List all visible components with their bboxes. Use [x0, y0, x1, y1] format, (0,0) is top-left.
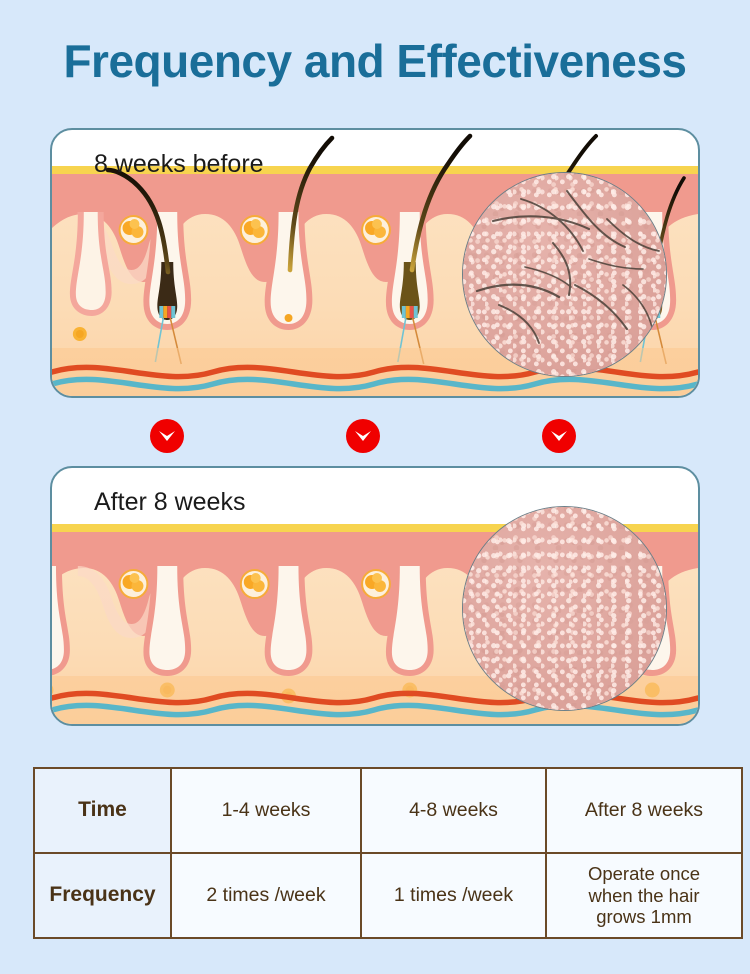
panel-8-weeks-before: 8 weeks before: [50, 128, 700, 398]
page-title: Frequency and Effectiveness: [0, 38, 750, 84]
cell-time-2: 4-8 weeks: [361, 768, 546, 853]
frequency-schedule-table: Time 1-4 weeks 4-8 weeks After 8 weeks F…: [33, 767, 743, 939]
cell-frequency-2: 1 times /week: [361, 853, 546, 938]
infographic-page: Frequency and Effectiveness 8 weeks befo…: [0, 0, 750, 974]
skin-closeup-smooth: [462, 506, 667, 711]
table-row-frequency: Frequency 2 times /week 1 times /week Op…: [34, 853, 742, 938]
cell-frequency-3-line-2: when the hair: [549, 885, 739, 907]
table-row-time: Time 1-4 weeks 4-8 weeks After 8 weeks: [34, 768, 742, 853]
panel-after-8-weeks: After 8 weeks: [50, 466, 700, 726]
chevron-down-icon: [150, 419, 184, 453]
skin-texture: [462, 506, 667, 711]
arrow-marker-2: [346, 419, 380, 453]
cell-frequency-3-line-1: Operate once: [549, 863, 739, 885]
cell-frequency-3: Operate once when the hair grows 1mm: [546, 853, 742, 938]
closeup-hairs: [463, 173, 667, 377]
chevron-down-icon: [542, 419, 576, 453]
chevron-down-icon: [346, 419, 380, 453]
skin-closeup-with-hair: [462, 172, 667, 377]
row-header-time: Time: [34, 768, 171, 853]
cell-frequency-3-line-3: grows 1mm: [549, 906, 739, 928]
arrow-marker-3: [542, 419, 576, 453]
cell-time-1: 1-4 weeks: [171, 768, 361, 853]
row-header-frequency: Frequency: [34, 853, 171, 938]
cell-frequency-1: 2 times /week: [171, 853, 361, 938]
panel-after-label: After 8 weeks: [94, 488, 245, 517]
arrow-marker-1: [150, 419, 184, 453]
panel-before-label: 8 weeks before: [94, 150, 264, 179]
cell-time-3: After 8 weeks: [546, 768, 742, 853]
